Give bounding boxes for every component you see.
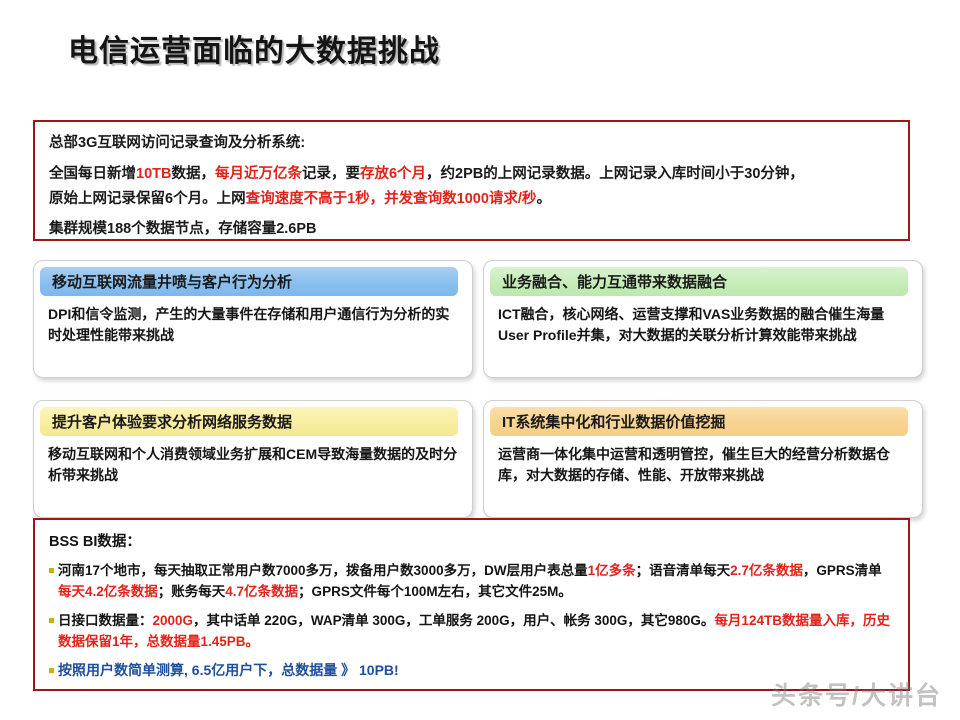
top-box-heading-text: 总部3G互联网访问记录查询及分析系统: — [49, 135, 305, 151]
bss-daily-interface-volume: 2000G — [153, 613, 194, 628]
square-bullet-icon — [49, 618, 54, 623]
bss-bi-data-panel: BSS BI数据： 河南17个地市，每天抽取正常用户数7000多万，拨备用户数3… — [33, 518, 910, 691]
headquarters-3g-system-panel: 总部3G互联网访问记录查询及分析系统: 全国每日新增10TB数据，每月近万亿条记… — [33, 120, 910, 241]
bss-b2-part-b: ，其中话单 220G，WAP清单 300G，工单服务 200G，用户、帐务 30… — [193, 613, 714, 628]
top-box-monthly-records-value: 每月近万亿条 — [215, 166, 302, 182]
top-box-line2-part-b: 数据， — [171, 166, 215, 182]
bss-b1-part-c: ，GPRS清单 — [803, 563, 882, 578]
bss-bi-panel-title: BSS BI数据： — [49, 530, 894, 551]
top-box-line3-part-a: 原始上网记录保留6个月。上网 — [49, 191, 246, 207]
bss-bullet-estimate: 按照用户数简单测算, 6.5亿用户下，总数据量 》 10PB! — [49, 660, 894, 681]
bss-b2-part-a: 日接口数据量： — [58, 613, 153, 628]
card-mobile-internet-traffic-body: DPI和信令监测，产生的大量事件在存储和用户通信行为分析的实时处理性能带来挑战 — [34, 296, 472, 346]
bss-b1-part-e: ；GPRS文件每个100M左右，其它文件25M。 — [298, 584, 572, 599]
card-business-fusion-header: 业务融合、能力互通带来数据融合 — [490, 267, 908, 296]
page-title: 电信运营面临的大数据挑战 — [68, 26, 440, 70]
top-box-line2-part-a: 全国每日新增 — [49, 166, 136, 182]
bss-b1-part-b: ；语音清单每天 — [636, 563, 731, 578]
bss-b1-part-a: 河南17个地市，每天抽取正常用户数7000多万，拨备用户数3000多万，DW层用… — [58, 563, 588, 578]
bss-bullet-daily-interface: 日接口数据量：2000G，其中话单 220G，WAP清单 300G，工单服务 2… — [49, 610, 894, 652]
card-it-centralization-header: IT系统集中化和行业数据价值挖掘 — [490, 407, 908, 436]
bss-gprs-list-daily: 每天4.2亿条数据 — [58, 584, 158, 599]
top-box-line2-part-c: 记录，要 — [302, 166, 360, 182]
card-customer-experience-body: 移动互联网和个人消费领域业务扩展和CEM导致海量数据的及时分析带来挑战 — [34, 436, 472, 486]
card-customer-experience-header: 提升客户体验要求分析网络服务数据 — [40, 407, 458, 436]
card-it-centralization-body: 运营商一体化集中运营和透明管控，催生巨大的经营分析数据仓库，对大数据的存储、性能… — [484, 436, 922, 486]
top-box-query-speed-value: 查询速度不高于1秒，并发查询数1000请求/秒 — [246, 191, 537, 207]
card-business-fusion-title: 业务融合、能力互通带来数据融合 — [502, 271, 727, 292]
card-mobile-internet-traffic-header: 移动互联网流量井喷与客户行为分析 — [40, 267, 458, 296]
top-box-line-2: 全国每日新增10TB数据，每月近万亿条记录，要存放6个月，约2PB的上网记录数据… — [49, 162, 894, 187]
square-bullet-icon — [49, 568, 54, 573]
bss-dw-user-table-total: 1亿多条 — [588, 563, 636, 578]
bss-bullet-estimate-text: 按照用户数简单测算, 6.5亿用户下，总数据量 》 10PB! — [58, 660, 894, 681]
card-business-fusion-body: ICT融合，核心网络、运营支撑和VAS业务数据的融合催生海量User Profi… — [484, 296, 922, 346]
card-it-centralization-title: IT系统集中化和行业数据价值挖掘 — [502, 411, 725, 432]
top-box-line-3: 原始上网记录保留6个月。上网查询速度不高于1秒，并发查询数1000请求/秒。 — [49, 187, 894, 212]
bss-voice-list-daily: 2.7亿条数据 — [730, 563, 803, 578]
bss-bullet-henan-text: 河南17个地市，每天抽取正常用户数7000多万，拨备用户数3000多万，DW层用… — [58, 560, 894, 602]
top-box-retention-value: 存放6个月 — [360, 166, 426, 182]
card-business-fusion[interactable]: 业务融合、能力互通带来数据融合 ICT融合，核心网络、运营支撑和VAS业务数据的… — [483, 260, 923, 378]
top-box-line-4: 集群规模188个数据节点，存储容量2.6PB — [49, 217, 894, 242]
top-box-line2-part-d: ，约2PB的上网记录数据。上网记录入库时间小于30分钟， — [426, 166, 804, 182]
top-box-cluster-scale-text: 集群规模188个数据节点，存储容量2.6PB — [49, 221, 317, 237]
square-bullet-icon — [49, 668, 54, 673]
bss-bullet-daily-interface-text: 日接口数据量：2000G，其中话单 220G，WAP清单 300G，工单服务 2… — [58, 610, 894, 652]
top-box-line3-part-b: 。 — [536, 191, 551, 207]
card-mobile-internet-traffic-title: 移动互联网流量井喷与客户行为分析 — [52, 271, 292, 292]
card-customer-experience[interactable]: 提升客户体验要求分析网络服务数据 移动互联网和个人消费领域业务扩展和CEM导致海… — [33, 400, 473, 518]
bss-billing-daily: 4.7亿条数据 — [225, 584, 298, 599]
bss-bullet-henan: 河南17个地市，每天抽取正常用户数7000多万，拨备用户数3000多万，DW层用… — [49, 560, 894, 602]
top-box-daily-increment-value: 10TB — [136, 166, 171, 182]
card-it-centralization[interactable]: IT系统集中化和行业数据价值挖掘 运营商一体化集中运营和透明管控，催生巨大的经营… — [483, 400, 923, 518]
card-customer-experience-title: 提升客户体验要求分析网络服务数据 — [52, 411, 292, 432]
card-mobile-internet-traffic[interactable]: 移动互联网流量井喷与客户行为分析 DPI和信令监测，产生的大量事件在存储和用户通… — [33, 260, 473, 378]
bss-b1-part-d: ；账务每天 — [158, 584, 226, 599]
top-box-heading: 总部3G互联网访问记录查询及分析系统: — [49, 131, 894, 156]
